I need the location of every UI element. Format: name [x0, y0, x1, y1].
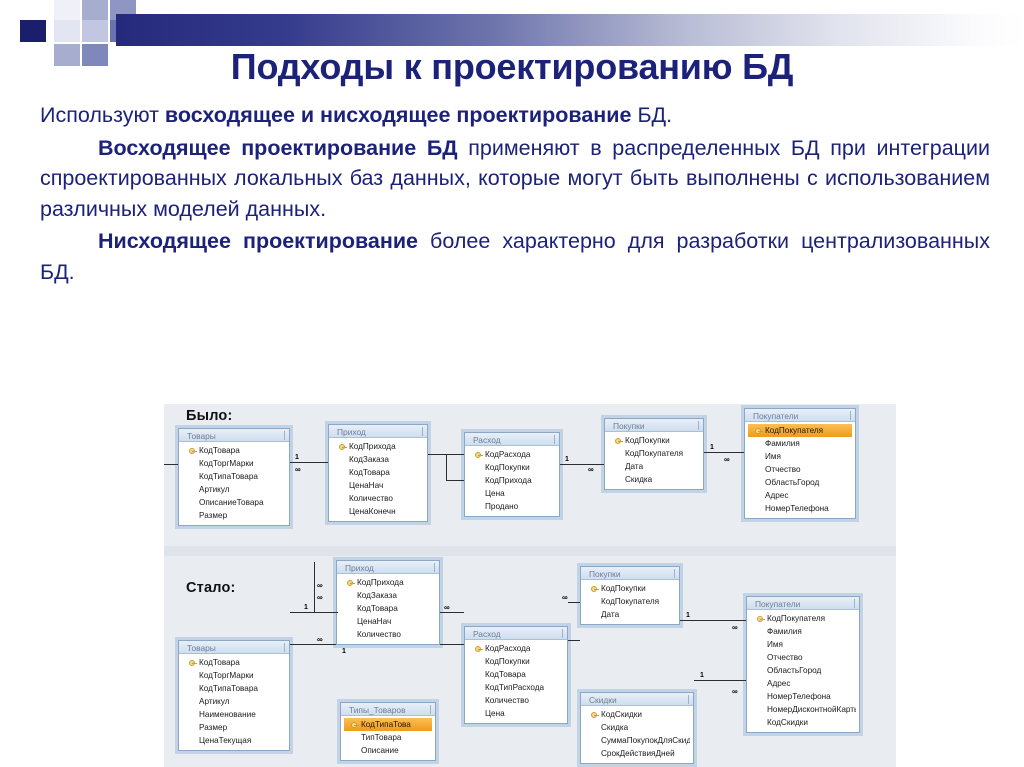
relationship-line [568, 640, 580, 641]
er-field-primary-key[interactable]: КодПокупки [608, 434, 700, 447]
cardinality-one-marker: 1 [295, 454, 299, 461]
cardinality-many-marker: ∞ [295, 466, 300, 474]
relationship-line [290, 612, 314, 613]
header-gradient-bar [116, 14, 1024, 46]
er-field-primary-key[interactable]: КодТовара [182, 444, 286, 457]
er-field-primary-key[interactable]: КодРасхода [468, 448, 556, 461]
cardinality-one-marker: 1 [304, 604, 308, 611]
er-field[interactable]: ОбластьГород [750, 664, 856, 677]
deco-square [54, 20, 80, 42]
er-field-primary-key[interactable]: КодПрихода [332, 440, 424, 453]
er-field[interactable]: КодТовара [468, 668, 564, 681]
emphasis-text: Восходящее проектирование БД [98, 136, 458, 160]
er-field[interactable]: Имя [750, 638, 856, 651]
cardinality-one-marker: 1 [700, 672, 704, 679]
er-field-primary-key[interactable]: КодПрихода [340, 576, 436, 589]
relationship-line [290, 462, 328, 463]
paragraph-2: Восходящее проектирование БД применяют в… [40, 133, 990, 225]
er-field[interactable]: КодПокупателя [584, 595, 676, 608]
er-field[interactable]: КодПокупки [468, 461, 556, 474]
er-field[interactable]: Отчество [748, 463, 852, 476]
er-field[interactable]: Размер [182, 721, 286, 734]
er-table-card[interactable]: ПокупателиКодПокупателяФамилияИмяОтчеств… [744, 408, 856, 519]
er-field[interactable]: Адрес [748, 489, 852, 502]
er-table-title: Товары [179, 641, 289, 654]
relationship-line [440, 612, 464, 613]
er-field-list: КодТовараКодТоргМаркиКодТипаТовараАртику… [179, 654, 289, 750]
er-field-list: КодПриходаКодЗаказаКодТовараЦенаНачКолич… [329, 438, 427, 521]
er-table-title: Покупатели [747, 597, 859, 610]
relationship-line [446, 454, 447, 480]
er-field-list: КодПокупателяФамилияИмяОтчествоОбластьГо… [745, 422, 855, 518]
before-section-label: Было: [186, 408, 233, 424]
er-table-title: Покупки [605, 419, 703, 432]
cardinality-many-marker: ∞ [724, 456, 729, 464]
er-field[interactable]: Количество [332, 492, 424, 505]
er-table-title: Приход [337, 561, 439, 574]
er-field[interactable]: Скидка [584, 721, 690, 734]
er-field-primary-key[interactable]: КодТипаТова [344, 718, 432, 731]
relationship-line [560, 464, 604, 465]
relationship-line [290, 644, 336, 645]
cardinality-one-marker: 1 [710, 444, 714, 451]
er-field-list: КодСкидкиСкидкаСуммаПокупокДляСкидкиСрок… [581, 706, 693, 763]
relationship-line [446, 480, 464, 481]
cardinality-many-marker: ∞ [588, 466, 593, 474]
relationship-line [694, 680, 746, 681]
relationship-line [314, 612, 338, 613]
er-field[interactable]: КодПокупателя [608, 447, 700, 460]
er-table-title: Скидки [581, 693, 693, 706]
er-field[interactable]: НомерТелефона [750, 690, 856, 703]
er-field-list: КодПокупкиКодПокупателяДата [581, 580, 679, 624]
body-text: БД. [631, 103, 672, 127]
er-table-card[interactable]: ПриходКодПриходаКодЗаказаКодТовараЦенаНа… [328, 424, 428, 522]
page-title: Подходы к проектированию БД [0, 46, 1024, 88]
er-table-card[interactable]: ПокупкиКодПокупкиКодПокупателяДата [580, 566, 680, 625]
er-field[interactable]: Количество [468, 694, 564, 707]
er-field[interactable]: Фамилия [750, 625, 856, 638]
er-field[interactable]: Фамилия [748, 437, 852, 450]
er-table-card[interactable]: ПокупателиКодПокупателяФамилияИмяОтчеств… [746, 596, 860, 733]
cardinality-many-marker: ∞ [317, 594, 322, 602]
er-field[interactable]: СуммаПокупокДляСкидки [584, 734, 690, 747]
er-field[interactable]: ЦенаНач [340, 615, 436, 628]
er-field[interactable]: КодТипаТовара [182, 682, 286, 695]
er-table-card[interactable]: РасходКодРасходаКодПокупкиКодТовараКодТи… [464, 626, 568, 724]
er-field[interactable]: ЦенаКонечн [332, 505, 424, 518]
er-field[interactable]: Размер [182, 509, 286, 522]
relationship-line [164, 464, 178, 465]
er-field[interactable]: НомерТелефона [748, 502, 852, 515]
er-field[interactable]: КодТипаТовара [182, 470, 286, 483]
cardinality-one-marker: 1 [686, 612, 690, 619]
er-table-card[interactable]: ТоварыКодТовараКодТоргМаркиКодТипаТовара… [178, 640, 290, 751]
deco-square [20, 20, 46, 42]
emphasis-text: восходящее и нисходящее проектирование [165, 103, 632, 127]
er-field-primary-key[interactable]: КодПокупки [584, 582, 676, 595]
er-field-list: КодТовараКодТоргМаркиКодТипаТовараАртику… [179, 442, 289, 525]
er-field[interactable]: СрокДействияДней [584, 747, 690, 760]
deco-square [82, 20, 108, 42]
er-table-title: Покупатели [745, 409, 855, 422]
er-table-title: Покупки [581, 567, 679, 580]
relationship-line [704, 452, 744, 453]
er-field-primary-key[interactable]: КодРасхода [468, 642, 564, 655]
er-table-card[interactable]: ПриходКодПриходаКодЗаказаКодТовараЦенаНа… [336, 560, 440, 645]
er-field[interactable]: Описание [344, 744, 432, 757]
er-field[interactable]: КодТовара [340, 602, 436, 615]
er-diagram-image: Было: Стало: ТоварыКодТовараКодТоргМарки… [164, 404, 896, 767]
cardinality-many-marker: ∞ [317, 582, 322, 590]
er-field[interactable]: КодТипРасхода [468, 681, 564, 694]
er-field[interactable]: Цена [468, 707, 564, 720]
after-section-label: Стало: [186, 580, 236, 596]
slide-body-text: Используют восходящее и нисходящее проек… [40, 100, 990, 289]
er-field[interactable]: Цена [468, 487, 556, 500]
cardinality-many-marker: ∞ [732, 624, 737, 632]
er-field[interactable]: ОбластьГород [748, 476, 852, 489]
er-field[interactable]: КодЗаказа [340, 589, 436, 602]
emphasis-text: Нисходящее проектирование [98, 229, 418, 253]
er-field[interactable]: КодСкидки [750, 716, 856, 729]
cardinality-many-marker: ∞ [562, 594, 567, 602]
er-table-card[interactable]: ПокупкиКодПокупкиКодПокупателяДатаСкидка [604, 418, 704, 490]
er-field[interactable]: Продано [468, 500, 556, 513]
er-field[interactable]: Имя [748, 450, 852, 463]
er-field-list: КодТипаТоваТипТовараОписание [341, 716, 435, 760]
er-field[interactable]: КодТоргМарки [182, 669, 286, 682]
er-field[interactable]: КодПокупки [468, 655, 564, 668]
deco-square [54, 0, 80, 22]
relationship-line [680, 620, 746, 621]
er-field[interactable]: Скидка [608, 473, 700, 486]
er-field[interactable]: ЦенаНач [332, 479, 424, 492]
er-field-list: КодПриходаКодЗаказаКодТовараЦенаНачКолич… [337, 574, 439, 644]
er-field[interactable]: ЦенаТекущая [182, 734, 286, 747]
er-field-list: КодРасходаКодПокупкиКодПриходаЦенаПродан… [465, 446, 559, 516]
er-field[interactable]: Артикул [182, 695, 286, 708]
er-table-title: Расход [465, 433, 559, 446]
relationship-line [440, 644, 464, 645]
er-field[interactable]: КодПрихода [468, 474, 556, 487]
cardinality-many-marker: ∞ [732, 688, 737, 696]
er-field[interactable]: ТипТовара [344, 731, 432, 744]
er-field-list: КодПокупателяФамилияИмяОтчествоОбластьГо… [747, 610, 859, 732]
cardinality-one-marker: 1 [565, 456, 569, 463]
er-table-card[interactable]: РасходКодРасходаКодПокупкиКодПриходаЦена… [464, 432, 560, 517]
body-text: Используют [40, 103, 165, 127]
er-field[interactable]: Артикул [182, 483, 286, 496]
er-field[interactable]: КодЗаказа [332, 453, 424, 466]
er-field[interactable]: Дата [608, 460, 700, 473]
er-table-title: Товары [179, 429, 289, 442]
cardinality-one-marker: 1 [342, 648, 346, 655]
er-field[interactable]: Количество [340, 628, 436, 641]
cardinality-many-marker: ∞ [317, 636, 322, 644]
er-table-card[interactable]: Типы_ТоваровКодТипаТоваТипТовараОписание [340, 702, 436, 761]
er-field[interactable]: Адрес [750, 677, 856, 690]
er-table-title: Расход [465, 627, 567, 640]
er-field[interactable]: Отчество [750, 651, 856, 664]
er-field[interactable]: КодТоргМарки [182, 457, 286, 470]
er-field[interactable]: Наименование [182, 708, 286, 721]
er-field[interactable]: КодТовара [332, 466, 424, 479]
paragraph-3: Нисходящее проектирование более характер… [40, 226, 990, 287]
cardinality-many-marker: ∞ [444, 604, 449, 612]
er-table-card[interactable]: СкидкиКодСкидкиСкидкаСуммаПокупокДляСкид… [580, 692, 694, 764]
er-field[interactable]: НомерДисконтнойКарты [750, 703, 856, 716]
relationship-line [568, 602, 580, 603]
paragraph-1: Используют восходящее и нисходящее проек… [40, 100, 990, 131]
er-field-primary-key[interactable]: КодПокупателя [750, 612, 856, 625]
er-field-list: КодПокупкиКодПокупателяДатаСкидка [605, 432, 703, 489]
er-field[interactable]: Дата [584, 608, 676, 621]
relationship-line [314, 562, 315, 612]
er-field-primary-key[interactable]: КодСкидки [584, 708, 690, 721]
er-field-primary-key[interactable]: КодПокупателя [748, 424, 852, 437]
er-field[interactable]: ОписаниеТовара [182, 496, 286, 509]
er-table-title: Приход [329, 425, 427, 438]
er-field-list: КодРасходаКодПокупкиКодТовараКодТипРасхо… [465, 640, 567, 723]
er-field-primary-key[interactable]: КодТовара [182, 656, 286, 669]
er-table-card[interactable]: ТоварыКодТовараКодТоргМаркиКодТипаТовара… [178, 428, 290, 526]
deco-square [82, 0, 108, 22]
er-table-title: Типы_Товаров [341, 703, 435, 716]
